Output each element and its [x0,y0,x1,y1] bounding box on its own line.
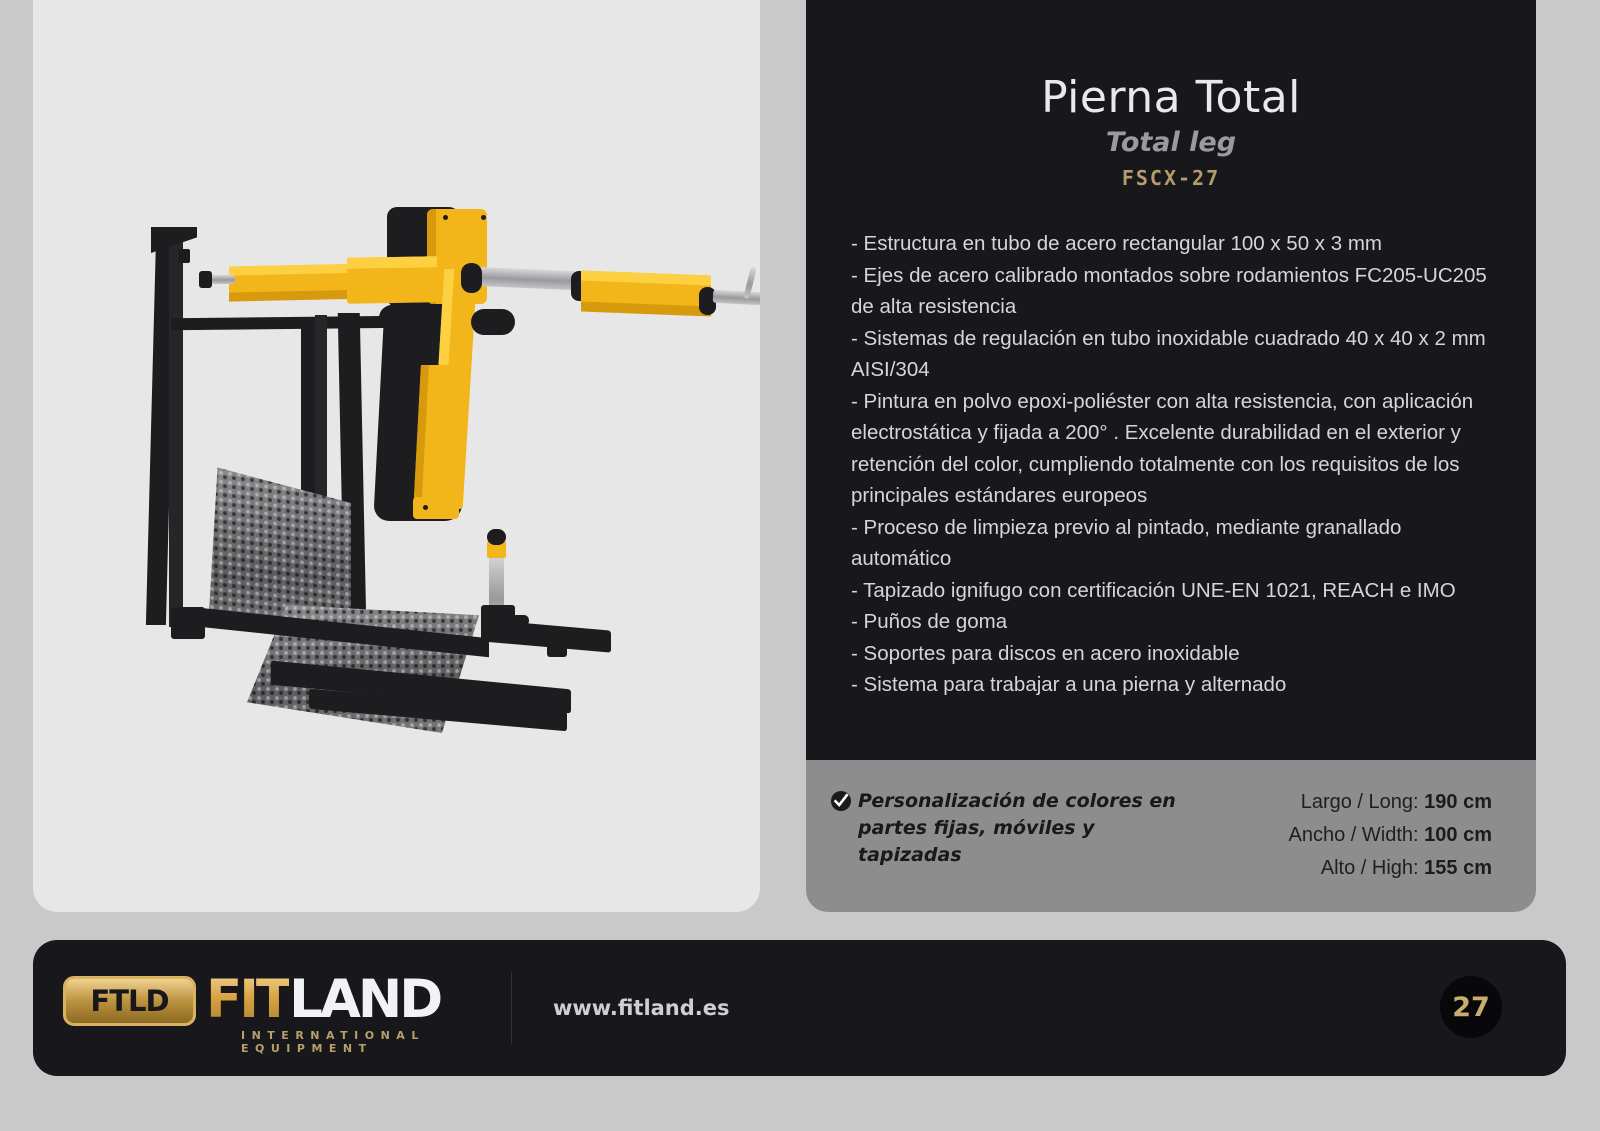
fitland-logo[interactable]: FTLD FITLAND INTERNATIONAL EQUIPMENT [63,966,483,1050]
machine-illustration [151,205,751,750]
dimension-label: Largo / Long: [1301,791,1419,813]
product-photo-panel [33,0,760,912]
specification-item: - Ejes de acero calibrado montados sobre… [851,260,1492,323]
footer-divider [511,972,512,1044]
page-title: Pierna Total [806,72,1536,123]
logo-word-land: LAND [289,969,440,1030]
product-title-block: Pierna Total Total leg FSCX-27 [806,0,1536,190]
summary-panel: Personalización de colores en partes fij… [806,760,1536,912]
customization-text: Personalización de colores en partes fij… [858,788,1190,869]
catalog-page: Pierna Total Total leg FSCX-27 - Estruct… [0,0,1600,1131]
dimension-row: Alto / High: 155 cm [1289,852,1492,885]
customization-note: Personalización de colores en partes fij… [830,788,1190,869]
logo-word-fit: FIT [206,969,289,1030]
product-info-panel: Pierna Total Total leg FSCX-27 - Estruct… [806,0,1536,760]
specification-item: - Sistema para trabajar a una pierna y a… [851,669,1492,701]
check-circle-icon [830,790,852,817]
specification-item: - Pintura en polvo epoxi-poliéster con a… [851,386,1492,512]
product-model-code: FSCX-27 [806,166,1536,190]
product-photo [33,0,760,912]
specification-item: - Puños de goma [851,606,1492,638]
dimension-value: 100 cm [1424,824,1492,846]
specification-item: - Tapizado ignifugo con certificación UN… [851,575,1492,607]
specification-item: - Proceso de limpieza previo al pintado,… [851,512,1492,575]
logo-tagline: INTERNATIONAL EQUIPMENT [241,1029,483,1055]
dimension-row: Ancho / Width: 100 cm [1289,819,1492,852]
specification-item: - Sistemas de regulación en tubo inoxida… [851,323,1492,386]
customization-line-1: Personalización de colores en [858,790,1176,812]
dimension-label: Alto / High: [1321,857,1419,879]
logo-wordmark: FITLAND [206,972,440,1028]
dimension-value: 190 cm [1424,791,1492,813]
customization-line-2: partes fijas, móviles y tapizadas [858,817,1095,866]
logo-badge: FTLD [63,976,196,1026]
logo-badge-text: FTLD [90,984,168,1018]
specification-item: - Soportes para discos en acero inoxidab… [851,638,1492,670]
dimensions-list: Largo / Long: 190 cmAncho / Width: 100 c… [1289,786,1492,885]
dimension-row: Largo / Long: 190 cm [1289,786,1492,819]
website-url[interactable]: www.fitland.es [553,996,730,1020]
page-footer: FTLD FITLAND INTERNATIONAL EQUIPMENT www… [33,940,1566,1076]
page-number-badge: 27 [1440,976,1502,1038]
dimension-label: Ancho / Width: [1289,824,1419,846]
specification-item: - Estructura en tubo de acero rectangula… [851,228,1492,260]
specifications-list: - Estructura en tubo de acero rectangula… [851,228,1492,701]
dimension-value: 155 cm [1424,857,1492,879]
product-subtitle: Total leg [806,127,1536,158]
